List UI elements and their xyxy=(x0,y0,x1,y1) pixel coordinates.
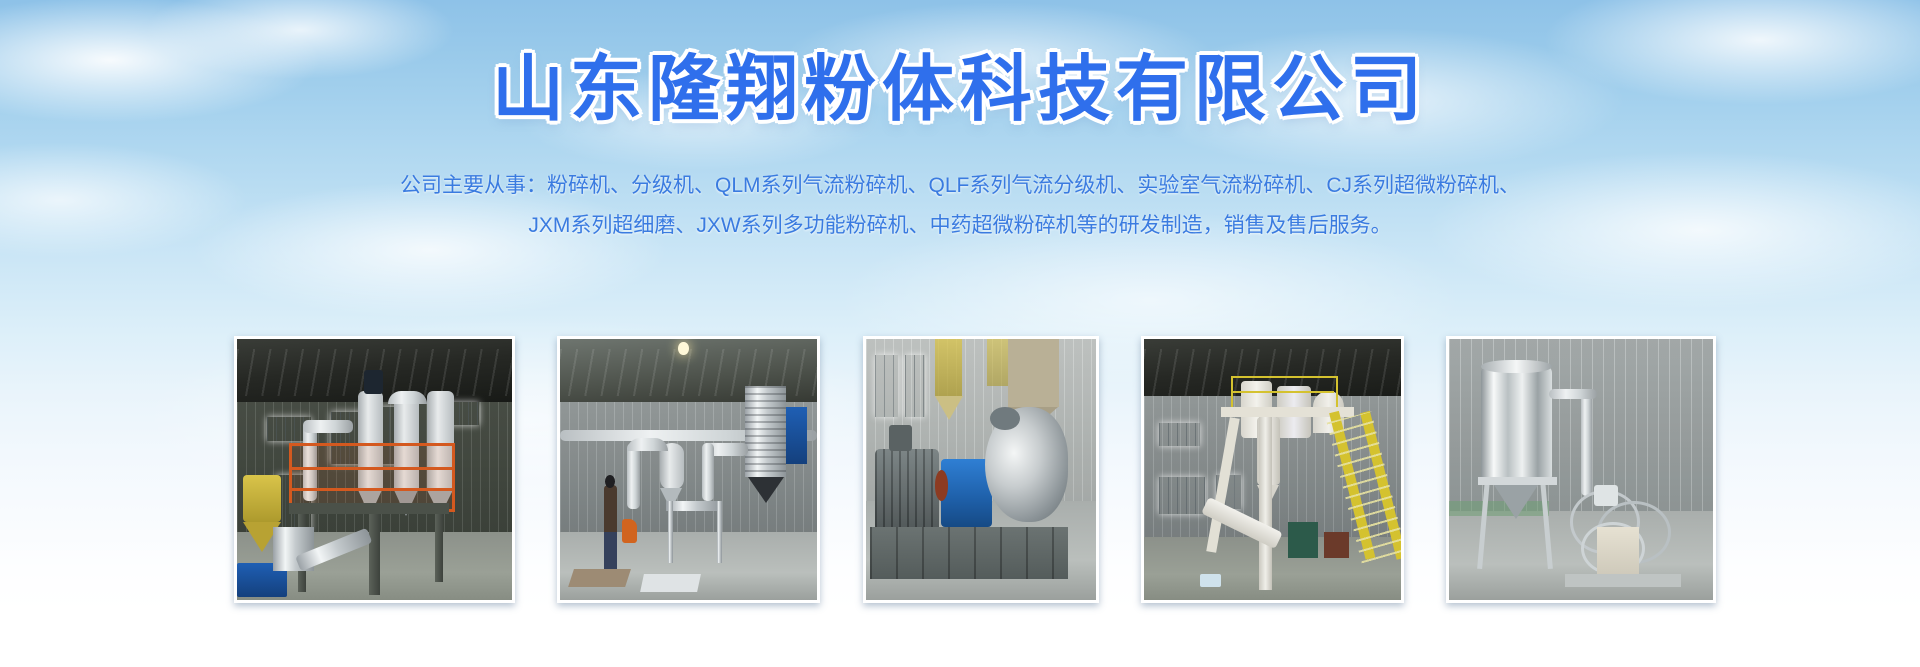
description-line-2: JXM系列超细磨、JXW系列多功能粉碎机、中药超微粉碎机等的研发制造，销售及售后… xyxy=(0,206,1920,246)
photo-motor-gearbox[interactable] xyxy=(863,336,1099,603)
photo-cyclone-workshop[interactable] xyxy=(557,336,820,603)
product-photo-strip xyxy=(234,336,1716,603)
description-line-1: 公司主要从事：粉碎机、分级机、QLM系列气流粉碎机、QLF系列气流分级机、实验室… xyxy=(0,166,1920,206)
photo-white-platform-line[interactable] xyxy=(1141,336,1404,603)
photo-lab-stainless-mill[interactable] xyxy=(1446,336,1716,603)
company-description: 公司主要从事：粉碎机、分级机、QLM系列气流粉碎机、QLF系列气流分级机、实验室… xyxy=(0,166,1920,246)
photo-airflow-mill-line[interactable] xyxy=(234,336,515,603)
page-title: 山东隆翔粉体科技有限公司 xyxy=(0,54,1920,126)
hero-banner: 山东隆翔粉体科技有限公司 公司主要从事：粉碎机、分级机、QLM系列气流粉碎机、Q… xyxy=(0,0,1920,667)
